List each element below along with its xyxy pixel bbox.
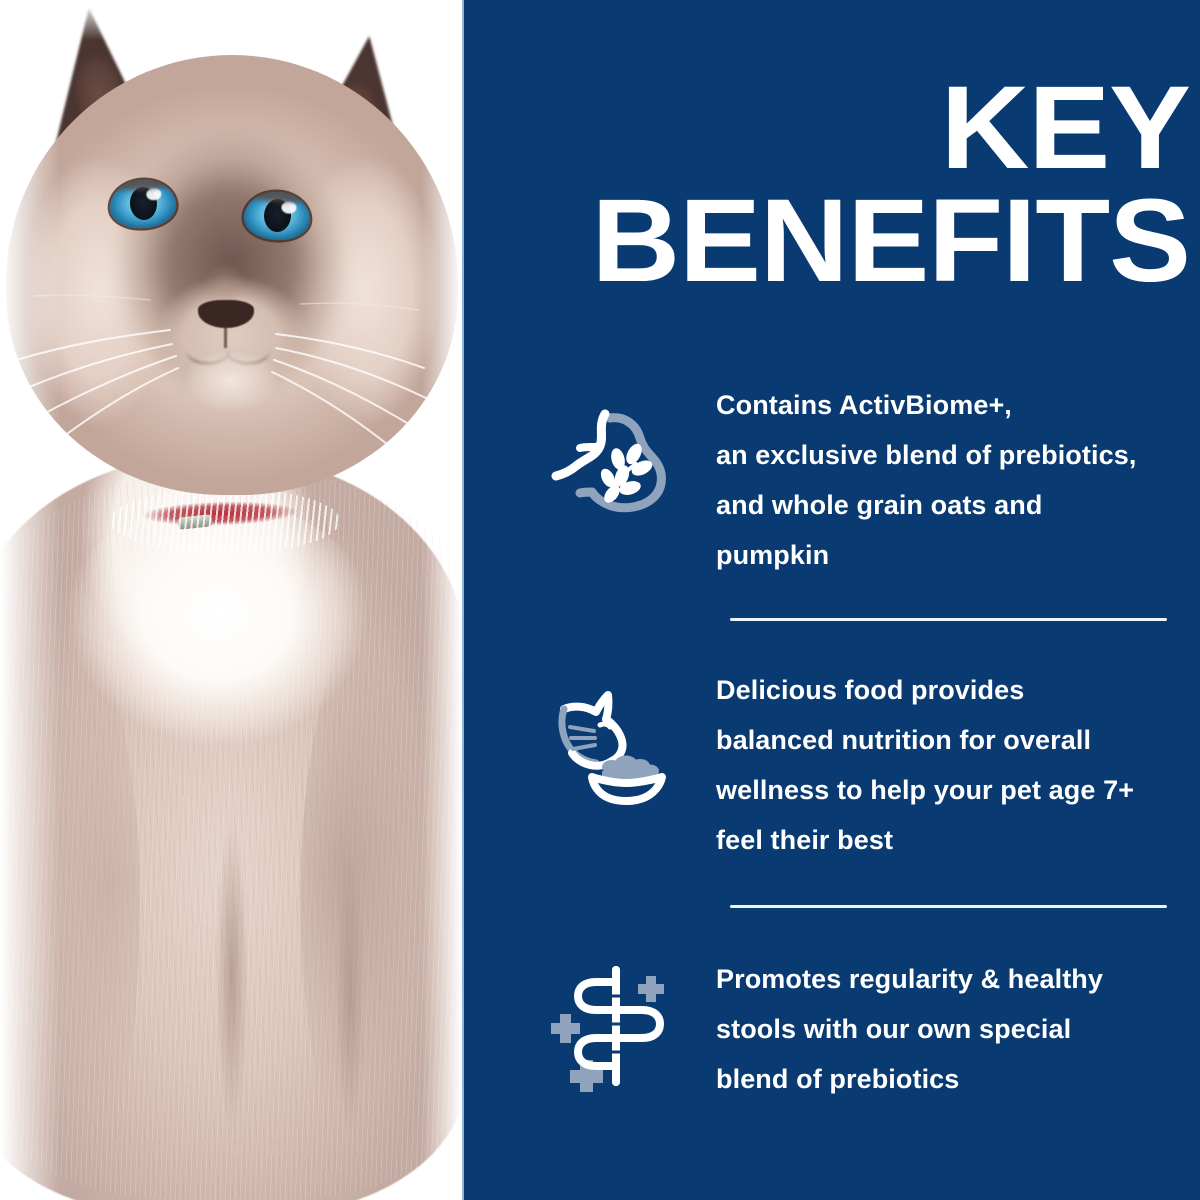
cat-photo	[0, 0, 462, 1200]
benefits-panel: KEY BENEFITS	[462, 0, 1200, 1200]
benefit-1-line-4: pumpkin	[716, 540, 829, 570]
benefit-text-3: Promotes regularity & healthy stools wit…	[682, 952, 1200, 1104]
benefit-item-1: Contains ActivBiome+, an exclusive blend…	[464, 378, 1200, 580]
cat-leg-separation-right	[330, 830, 370, 1200]
benefit-text-1: Contains ActivBiome+, an exclusive blend…	[682, 378, 1200, 580]
benefit-2-line-3: wellness to help your pet age 7+	[716, 775, 1134, 805]
benefit-text-2: Delicious food provides balanced nutriti…	[682, 663, 1200, 865]
benefit-3-line-2: stools with our own special	[716, 1014, 1071, 1044]
stomach-grain-icon	[550, 396, 682, 528]
benefit-1-line-2: an exclusive blend of prebiotics,	[716, 440, 1136, 470]
benefit-item-2: Delicious food provides balanced nutriti…	[464, 663, 1200, 865]
benefit-3-line-1: Promotes regularity & healthy	[716, 964, 1103, 994]
benefit-2-line-1: Delicious food provides	[716, 675, 1024, 705]
benefit-1-line-1: Contains ActivBiome+,	[716, 390, 1012, 420]
page-title-line-2: BENEFITS	[456, 185, 1190, 298]
page-title-line-1: KEY	[456, 72, 1190, 185]
key-benefits-infographic: KEY BENEFITS	[0, 0, 1200, 1200]
plus-left	[551, 1014, 580, 1043]
intestine-plus-icon	[550, 960, 682, 1092]
cat-photo-panel	[0, 0, 462, 1200]
benefit-3-line-3: blend of prebiotics	[716, 1064, 959, 1094]
cat-eating-bowl-icon	[550, 679, 682, 811]
cat-front-leg-separation	[210, 790, 254, 1200]
benefit-item-3: Promotes regularity & healthy stools wit…	[464, 952, 1200, 1104]
cat-whiskers	[0, 0, 462, 600]
benefits-list: Contains ActivBiome+, an exclusive blend…	[464, 378, 1200, 1104]
benefit-1-line-3: and whole grain oats and	[716, 490, 1042, 520]
page-title: KEY BENEFITS	[456, 72, 1190, 299]
benefit-2-line-2: balanced nutrition for overall	[716, 725, 1091, 755]
benefit-2-line-4: feel their best	[716, 825, 893, 855]
plus-top-right	[638, 976, 664, 1002]
